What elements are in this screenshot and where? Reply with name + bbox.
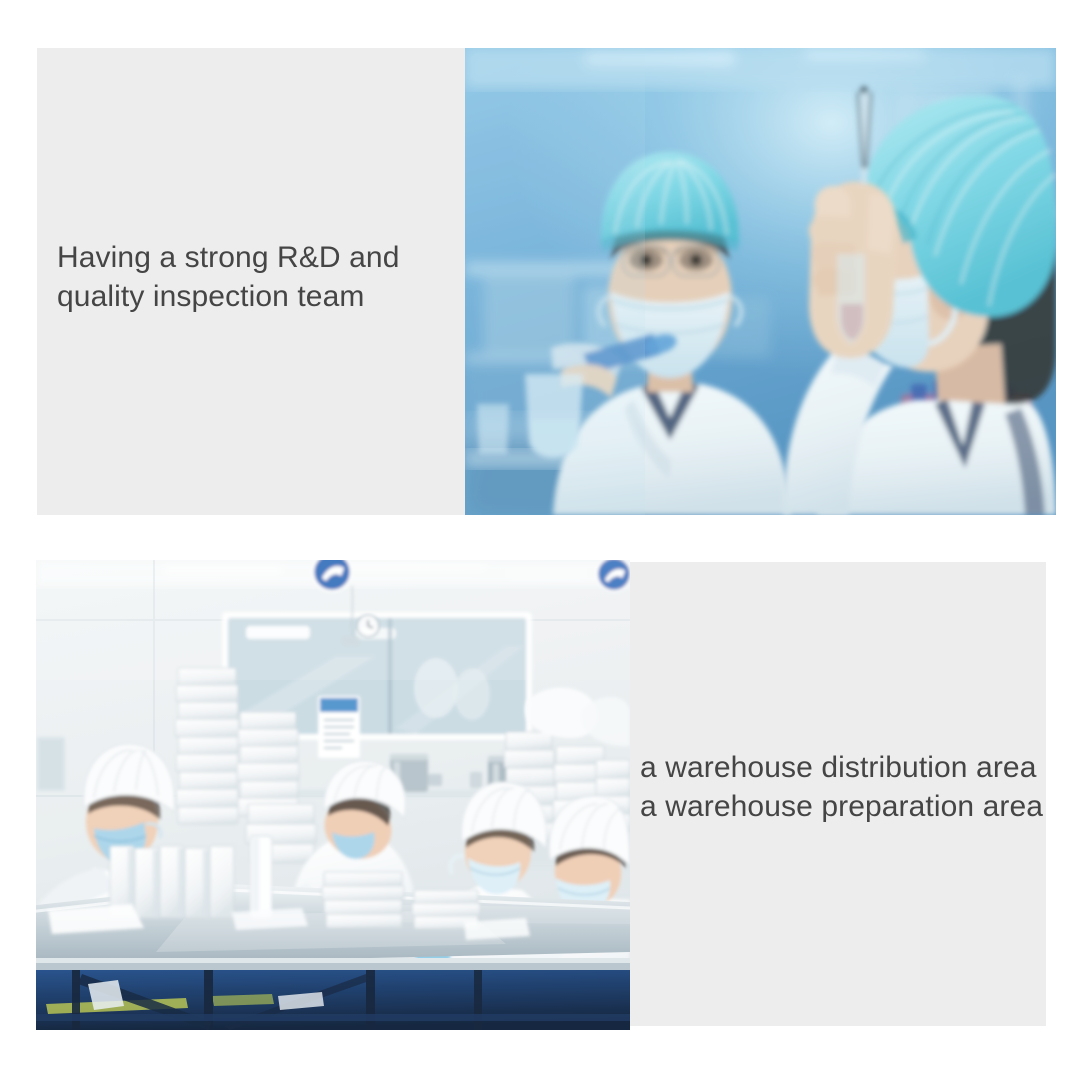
caption-line-1: a warehouse distribution area: [640, 748, 1060, 787]
caption-warehouse-areas: a warehouse distribution area a warehous…: [640, 748, 1060, 826]
caption-rnd-quality: Having a strong R&D and quality inspecti…: [57, 238, 457, 316]
warehouse-packing-photo: [36, 560, 630, 1030]
caption-line-1: Having a strong R&D and: [57, 238, 457, 277]
lab-technicians-photo: [465, 48, 1056, 515]
section-warehouse-areas: a warehouse distribution area a warehous…: [36, 560, 1046, 1030]
caption-line-2: a warehouse preparation area: [640, 787, 1060, 826]
collage-page: Having a strong R&D and quality inspecti…: [0, 0, 1080, 1080]
caption-line-2: quality inspection team: [57, 277, 457, 316]
section-rnd-quality: Having a strong R&D and quality inspecti…: [37, 48, 1056, 516]
